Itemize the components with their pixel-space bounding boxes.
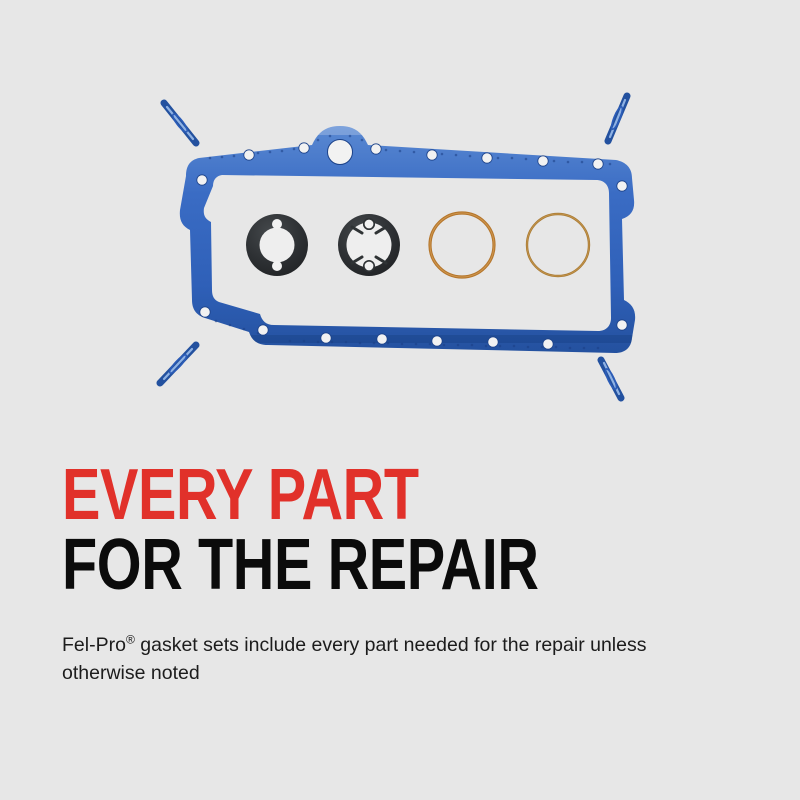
o-ring-large [430,213,494,277]
side-rail-top-right [608,96,627,141]
side-rail-bottom-right [601,360,621,398]
text-block: EVERY PART FOR THE REPAIR Fel-Pro® gaske… [62,462,752,688]
promo-page: EVERY PART FOR THE REPAIR Fel-Pro® gaske… [0,0,800,800]
headline-line-2: FOR THE REPAIR [62,532,614,598]
product-image-oil-pan-gasket-set [0,0,800,440]
body-copy-brand: Fel-Pro [62,634,126,656]
body-copy-rest: gasket sets include every part needed fo… [62,634,646,684]
registered-trademark-mark: ® [126,633,135,647]
body-copy: Fel-Pro® gasket sets include every part … [62,632,687,687]
rear-main-seal-half-thin [338,214,400,276]
headline-line-1: EVERY PART [62,462,614,528]
o-ring-small [527,214,589,276]
gasket-center-hole [328,140,353,165]
side-rail-bottom-left [160,345,196,383]
side-rail-top-left [164,103,196,143]
rear-main-seal-half-thick [246,214,308,276]
